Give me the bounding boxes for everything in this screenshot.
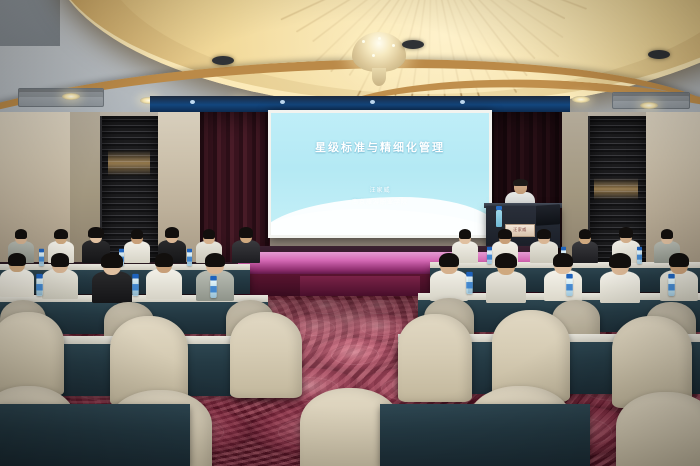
ceiling-spot-fixture bbox=[402, 40, 424, 49]
audience-member bbox=[92, 252, 132, 302]
audience-chair bbox=[398, 314, 472, 402]
water-bottle bbox=[466, 276, 472, 294]
bottle-cap bbox=[487, 247, 492, 251]
presentation-slide: 星级标准与精细化管理 汪家威 南京旅游职业学院 bbox=[271, 113, 489, 235]
chandelier-drop bbox=[372, 68, 386, 86]
audience-member-hair bbox=[579, 229, 592, 239]
audience-member-hair bbox=[459, 229, 472, 239]
ac-vent bbox=[18, 88, 104, 107]
wall-slat-glow-left bbox=[108, 150, 150, 176]
soffit-light-dot bbox=[370, 100, 375, 104]
audience-member bbox=[660, 252, 698, 300]
recessed-downlight bbox=[62, 93, 80, 100]
audience-chair bbox=[616, 392, 700, 466]
wall-slat-glow-right bbox=[594, 178, 638, 200]
audience-member bbox=[0, 252, 34, 296]
slide-title: 星级标准与精细化管理 bbox=[271, 139, 489, 155]
audience-member bbox=[486, 252, 526, 302]
water-bottle bbox=[187, 252, 192, 266]
chandelier-sparkle bbox=[392, 44, 395, 47]
chandelier-sparkle bbox=[362, 40, 365, 43]
audience-member bbox=[232, 226, 260, 262]
audience-member-torso bbox=[232, 240, 260, 263]
bottle-cap bbox=[187, 249, 192, 253]
audience-member-torso bbox=[486, 271, 526, 303]
audience-member-hair bbox=[54, 229, 67, 239]
stage-step bbox=[300, 276, 420, 296]
bottle-label bbox=[566, 284, 572, 290]
audience-member-hair bbox=[553, 253, 573, 267]
conference-hall-photo: 星级标准与精细化管理 汪家威 南京旅游职业学院 汪家威 bbox=[0, 0, 700, 466]
bottle-cap bbox=[561, 247, 566, 251]
audience-member-hair bbox=[619, 227, 634, 238]
audience-member-hair bbox=[609, 253, 631, 268]
chandelier-sparkle bbox=[372, 54, 375, 57]
audience-member-hair bbox=[205, 253, 225, 267]
projection-screen: 星级标准与精细化管理 汪家威 南京旅游职业学院 bbox=[268, 110, 492, 238]
audience-member-hair bbox=[101, 253, 123, 268]
audience-member bbox=[42, 252, 78, 298]
audience-chair bbox=[230, 312, 302, 398]
soffit-light-dot bbox=[460, 100, 465, 104]
bottle-cap bbox=[466, 272, 472, 277]
presenter-hair bbox=[513, 179, 528, 186]
audience-member-hair bbox=[537, 229, 551, 239]
audience-member-torso bbox=[92, 271, 132, 303]
water-bottle bbox=[566, 278, 572, 296]
bottle-cap bbox=[132, 274, 138, 279]
audience-table bbox=[380, 404, 590, 466]
audience-member-hair bbox=[669, 253, 688, 267]
crystal-chandelier bbox=[352, 28, 406, 88]
audience-member-hair bbox=[439, 253, 459, 267]
recessed-downlight bbox=[640, 102, 658, 109]
audience-member-torso bbox=[146, 269, 182, 298]
bottle-label bbox=[210, 286, 216, 292]
audience-member-hair bbox=[498, 229, 511, 239]
bottle-label bbox=[668, 284, 674, 290]
ceiling-spot-fixture bbox=[212, 56, 234, 65]
presenter-water-bottle bbox=[496, 210, 502, 227]
bottle-label bbox=[187, 257, 192, 262]
audience-member-hair bbox=[8, 253, 25, 266]
ceiling-spot-fixture bbox=[648, 50, 670, 59]
audience-member-hair bbox=[88, 227, 103, 238]
ceiling-left-recess bbox=[0, 0, 60, 46]
chandelier-sparkle bbox=[378, 37, 381, 40]
audience-member-torso bbox=[42, 269, 78, 298]
audience-chair bbox=[0, 312, 64, 396]
audience-member-hair bbox=[15, 229, 28, 239]
audience-member-torso bbox=[600, 271, 640, 303]
audience-member-hair bbox=[165, 227, 180, 238]
bottle-cap bbox=[566, 274, 572, 279]
bottle-label bbox=[466, 282, 472, 288]
water-bottle bbox=[132, 278, 138, 296]
audience-member-hair bbox=[203, 229, 216, 239]
bottle-cap bbox=[637, 247, 642, 251]
audience-member-torso bbox=[430, 270, 468, 301]
soffit-light-dot bbox=[190, 100, 195, 104]
presenter-laptop bbox=[536, 204, 560, 226]
audience-member bbox=[600, 252, 640, 302]
recessed-downlight bbox=[572, 96, 590, 103]
audience-member bbox=[544, 252, 582, 300]
bottle-label bbox=[36, 284, 42, 290]
soffit-light-dot bbox=[280, 100, 285, 104]
audience-member-hair bbox=[661, 229, 674, 239]
slide-author: 汪家威 bbox=[271, 185, 489, 194]
water-bottle bbox=[668, 278, 674, 296]
bottle-cap bbox=[36, 274, 42, 279]
audience-member-hair bbox=[155, 253, 173, 267]
audience-member-torso bbox=[544, 270, 582, 301]
audience-member-hair bbox=[495, 253, 517, 268]
bottle-cap bbox=[210, 276, 216, 281]
water-bottle bbox=[210, 280, 216, 298]
audience-member-hair bbox=[51, 253, 70, 267]
bottle-cap bbox=[668, 274, 674, 279]
audience-member bbox=[430, 252, 468, 300]
audience-member-hair bbox=[239, 227, 254, 238]
water-bottle bbox=[36, 278, 42, 296]
audience-member-torso bbox=[660, 270, 698, 301]
audience-member-hair bbox=[131, 229, 144, 239]
audience-member bbox=[146, 252, 182, 298]
audience-table bbox=[0, 404, 190, 466]
bottle-label bbox=[132, 284, 138, 290]
audience-member-torso bbox=[0, 269, 34, 297]
